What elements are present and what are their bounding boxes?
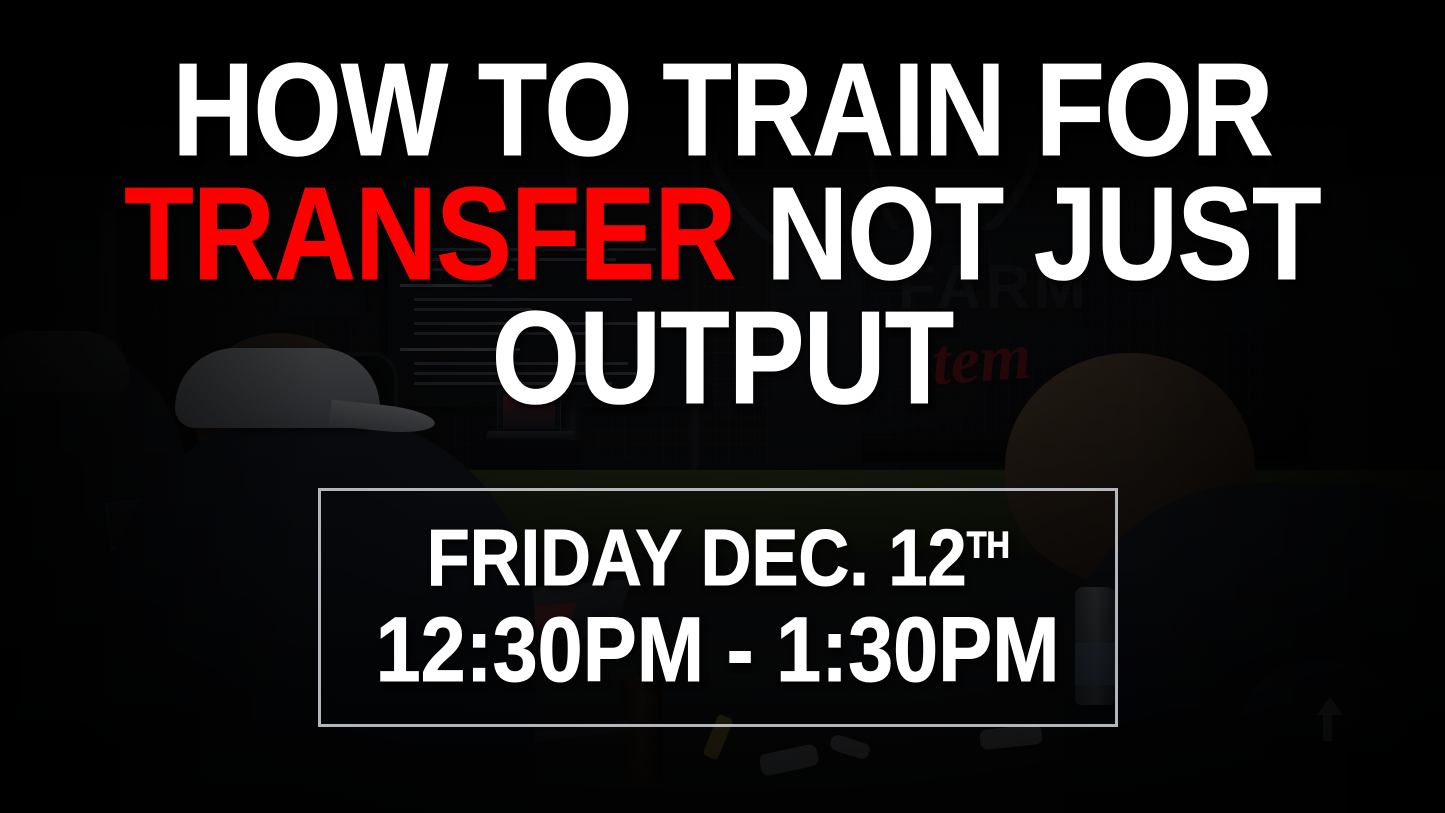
event-time-line: 12:30PM - 1:30PM — [376, 604, 1060, 698]
event-date-line: FRIDAY DEC. 12TH — [426, 517, 1009, 599]
event-datetime-box: FRIDAY DEC. 12TH 12:30PM - 1:30PM — [318, 488, 1118, 727]
headline-line-2: TRANSFER NOT JUST — [101, 172, 1344, 296]
promo-flyer: FARM tem — [0, 0, 1445, 813]
headline-line-3: OUTPUT — [101, 296, 1344, 420]
headline: HOW TO TRAIN FOR TRANSFER NOT JUST OUTPU… — [101, 48, 1344, 420]
headline-line-1: HOW TO TRAIN FOR — [101, 48, 1344, 172]
event-date-ordinal-suffix: TH — [966, 524, 1009, 565]
event-date-text: FRIDAY DEC. 12 — [426, 513, 966, 602]
